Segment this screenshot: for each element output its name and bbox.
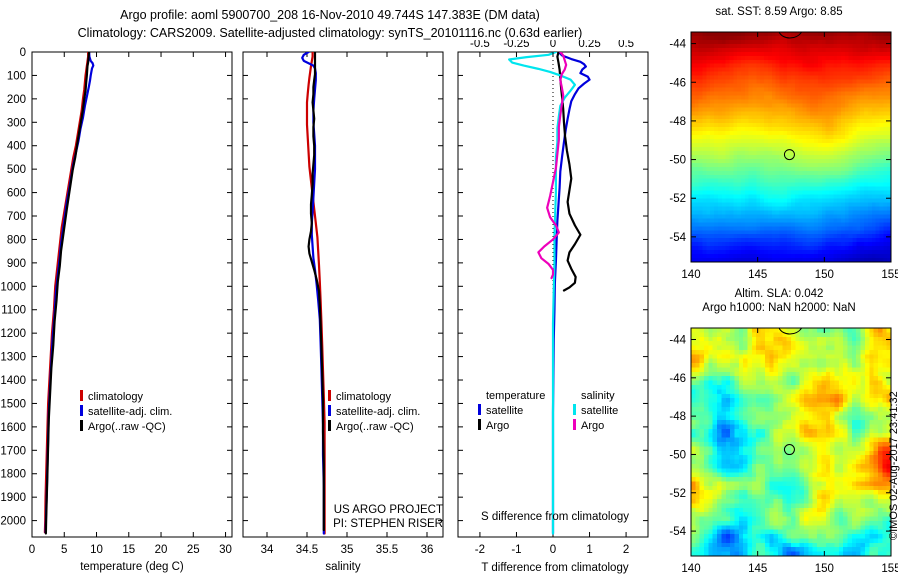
svg-text:1300: 1300 [0, 352, 26, 364]
svg-text:1: 1 [586, 544, 592, 556]
sst-map-panel: 140145150155-44-46-48-50-52-54 [660, 20, 898, 285]
legend-swatch-satellite-adj-salinity [328, 405, 331, 416]
sla-map-title-line2: Argo h1000: NaN h2000: NaN [660, 302, 898, 314]
svg-text:1500: 1500 [0, 398, 26, 410]
svg-text:145: 145 [748, 269, 767, 281]
svg-text:-44: -44 [669, 39, 686, 51]
svg-text:1400: 1400 [0, 375, 26, 387]
svg-text:34.5: 34.5 [296, 544, 318, 556]
sst-map: 140145150155-44-46-48-50-52-54 [660, 20, 898, 285]
t-difference-axis-label: T difference from climatology [450, 562, 660, 574]
svg-text:-0.5: -0.5 [470, 40, 490, 50]
project-credit-line1: US ARGO PROJECT [334, 504, 443, 516]
svg-text:-54: -54 [669, 232, 686, 244]
sla-map: 140145150155-44-46-48-50-52-54 [660, 316, 898, 576]
legend-label-argo: Argo(..raw -QC) [88, 421, 166, 433]
difference-legend-salinity: salinity satellite Argo [573, 390, 618, 432]
temperature-profile-panel: 0100200300400500600700800900100011001200… [0, 40, 235, 580]
legend-item-argo-salinity: Argo(..raw -QC) [328, 420, 420, 433]
s-difference-axis-label: S difference from climatology [450, 511, 660, 523]
legend-label-temp-satellite: satellite [486, 405, 523, 417]
salinity-legend: climatology satellite-adj. clim. Argo(..… [328, 390, 420, 433]
project-credit-line2: PI: STEPHEN RISER [333, 518, 443, 530]
legend-swatch-climatology-salinity [328, 390, 331, 401]
svg-text:400: 400 [7, 141, 26, 153]
legend-item-sal-argo: Argo [573, 419, 618, 432]
svg-text:100: 100 [7, 70, 26, 82]
legend-label-temp-argo: Argo [486, 420, 509, 432]
legend-item-climatology: climatology [80, 390, 172, 403]
svg-text:900: 900 [7, 258, 26, 270]
svg-text:temperature (deg C): temperature (deg C) [80, 561, 184, 573]
legend-swatch-climatology [80, 390, 83, 401]
temperature-profile-chart: 0100200300400500600700800900100011001200… [0, 40, 235, 580]
legend-swatch-satellite-adj [80, 405, 83, 416]
svg-text:0: 0 [550, 544, 556, 556]
svg-text:36: 36 [421, 544, 434, 556]
difference-legend-temperature: temperature satellite Argo [478, 390, 545, 432]
svg-text:-0.25: -0.25 [503, 40, 529, 50]
legend-swatch-temp-argo [478, 419, 481, 430]
svg-text:-48: -48 [669, 116, 686, 128]
legend-label-satellite-adj-salinity: satellite-adj. clim. [336, 406, 420, 418]
svg-text:1600: 1600 [0, 422, 26, 434]
svg-text:1000: 1000 [0, 281, 26, 293]
legend-item-sal-satellite: satellite [573, 404, 618, 417]
svg-text:25: 25 [187, 544, 200, 556]
svg-text:15: 15 [122, 544, 135, 556]
page-title-line2: Climatology: CARS2009. Satellite-adjuste… [0, 26, 660, 40]
legend-header-salinity: salinity [573, 390, 618, 402]
legend-label-sal-argo: Argo [581, 420, 604, 432]
svg-text:0: 0 [20, 47, 26, 59]
svg-text:200: 200 [7, 94, 26, 106]
legend-item-temp-argo: Argo [478, 419, 545, 432]
legend-swatch-sal-argo [573, 419, 576, 430]
temperature-legend: climatology satellite-adj. clim. Argo(..… [80, 390, 172, 433]
legend-header-temperature: temperature [478, 390, 545, 402]
svg-text:155: 155 [881, 269, 898, 281]
svg-text:30: 30 [219, 544, 232, 556]
legend-swatch-temp-satellite [478, 404, 481, 415]
legend-swatch-argo-salinity [328, 420, 331, 431]
imos-credit-text: ©IMOS 02-Aug-2017 23:41:32 [888, 391, 900, 540]
svg-text:-46: -46 [669, 77, 686, 89]
legend-item-temp-satellite: satellite [478, 404, 545, 417]
svg-text:150: 150 [815, 269, 834, 281]
svg-text:1700: 1700 [0, 445, 26, 457]
svg-text:1100: 1100 [1, 305, 26, 317]
legend-item-climatology-salinity: climatology [328, 390, 420, 403]
svg-text:0: 0 [29, 544, 35, 556]
svg-text:2000: 2000 [0, 516, 26, 528]
svg-text:300: 300 [7, 117, 26, 129]
svg-text:1200: 1200 [0, 328, 26, 340]
legend-label-sal-satellite: satellite [581, 405, 618, 417]
legend-item-argo: Argo(..raw -QC) [80, 420, 172, 433]
svg-text:20: 20 [155, 544, 168, 556]
svg-text:-1: -1 [511, 544, 521, 556]
difference-profile-chart: -2-1012-0.5-0.2500.250.5 [450, 40, 660, 580]
svg-text:0.5: 0.5 [618, 40, 634, 50]
imos-credit: ©IMOS 02-Aug-2017 23:41:32 [888, 540, 900, 552]
difference-profile-panel: -2-1012-0.5-0.2500.250.5 [450, 40, 660, 580]
sla-map-panel: 140145150155-44-46-48-50-52-54 [660, 316, 898, 576]
page-title-line1: Argo profile: aoml 5900700_208 16-Nov-20… [0, 8, 660, 22]
svg-text:500: 500 [7, 164, 26, 176]
svg-text:10: 10 [90, 544, 103, 556]
legend-label-satellite-adj: satellite-adj. clim. [88, 406, 172, 418]
legend-label-argo-salinity: Argo(..raw -QC) [336, 421, 414, 433]
salinity-profile-panel: 3434.53535.536salinity [235, 40, 450, 580]
svg-text:35.5: 35.5 [376, 544, 398, 556]
legend-label-climatology: climatology [88, 391, 143, 403]
svg-text:35: 35 [341, 544, 354, 556]
svg-text:700: 700 [7, 211, 26, 223]
svg-text:-50: -50 [669, 155, 686, 167]
svg-text:140: 140 [681, 269, 700, 281]
legend-swatch-sal-satellite [573, 404, 576, 415]
svg-text:34: 34 [261, 544, 274, 556]
svg-text:5: 5 [61, 544, 67, 556]
svg-text:800: 800 [7, 234, 26, 246]
svg-text:2: 2 [623, 544, 629, 556]
svg-text:1900: 1900 [0, 492, 26, 504]
svg-text:salinity: salinity [325, 561, 360, 573]
svg-text:600: 600 [7, 188, 26, 200]
legend-item-satellite-adj-salinity: satellite-adj. clim. [328, 405, 420, 418]
svg-text:-52: -52 [669, 193, 686, 205]
svg-text:-2: -2 [475, 544, 485, 556]
sla-map-title-line1: Altim. SLA: 0.042 [660, 288, 898, 300]
svg-text:0.25: 0.25 [578, 40, 600, 50]
legend-item-satellite-adj: satellite-adj. clim. [80, 405, 172, 418]
sst-map-title: sat. SST: 8.59 Argo: 8.85 [660, 6, 898, 18]
legend-swatch-argo [80, 420, 83, 431]
svg-text:0: 0 [550, 40, 556, 50]
legend-label-climatology-salinity: climatology [336, 391, 391, 403]
svg-text:1800: 1800 [0, 469, 26, 481]
salinity-profile-chart: 3434.53535.536salinity [235, 40, 450, 580]
